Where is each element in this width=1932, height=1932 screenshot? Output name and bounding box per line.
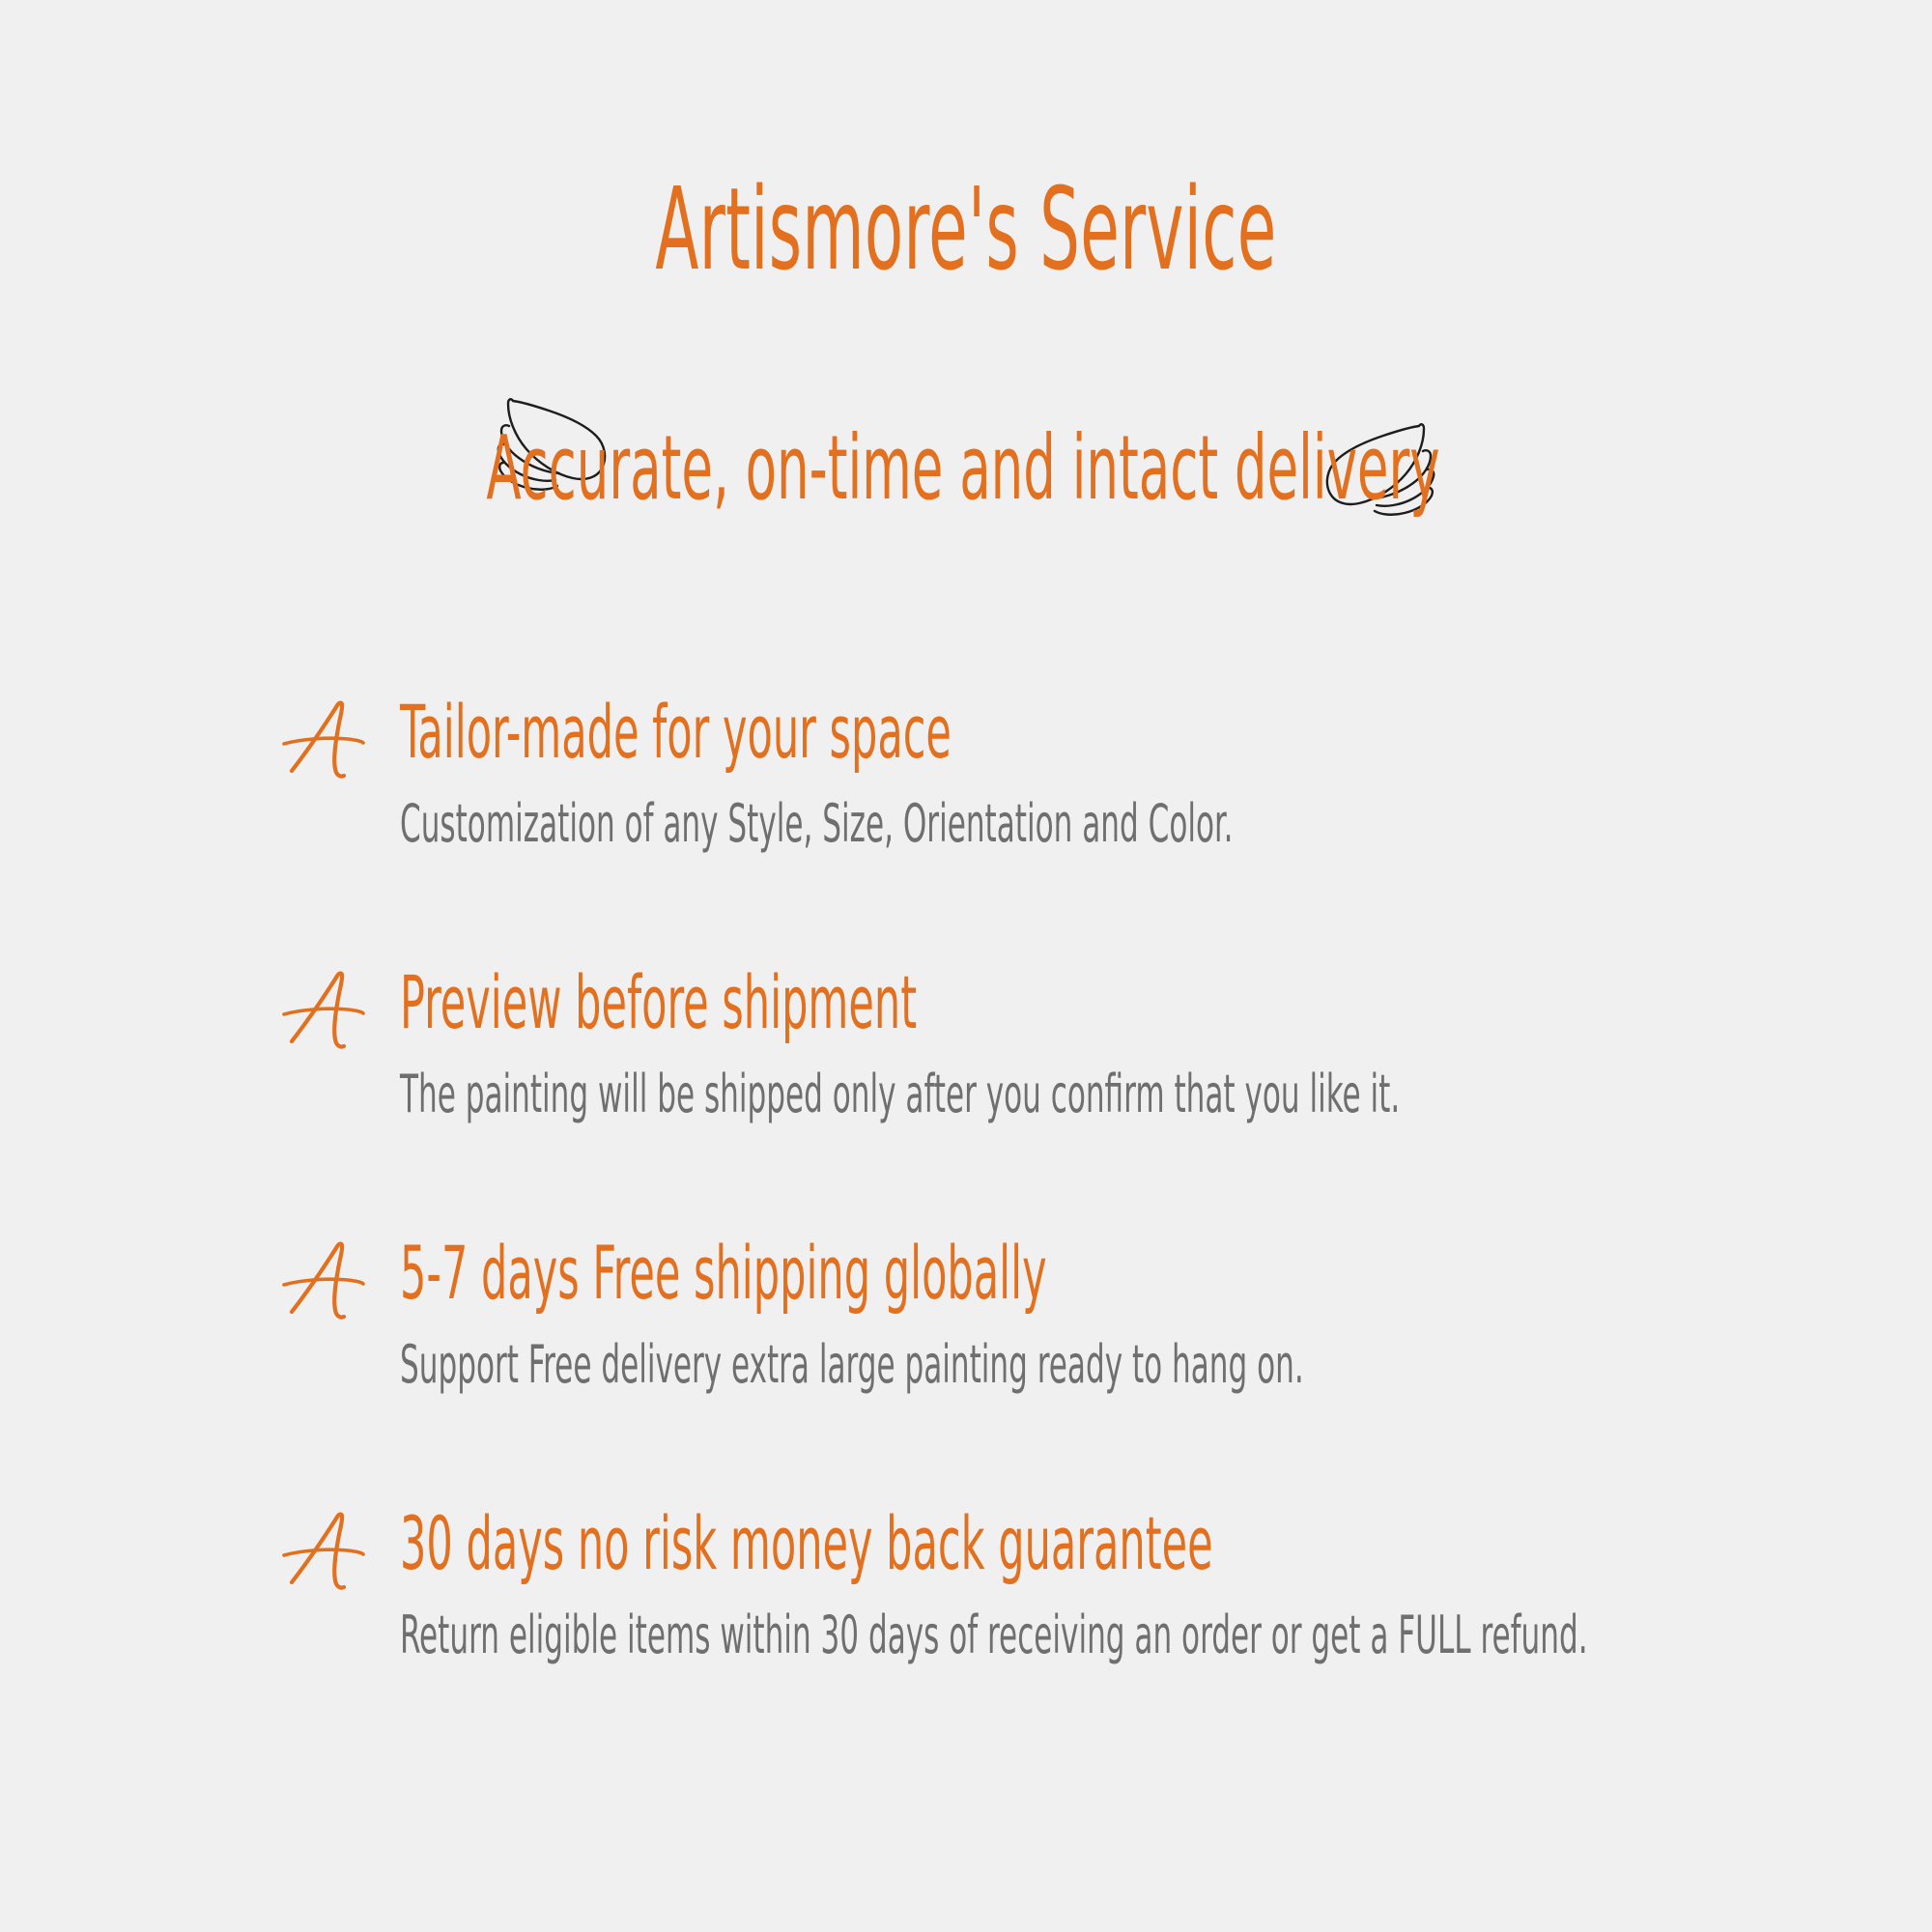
script-a-icon: [280, 1507, 369, 1596]
script-a-icon: [280, 966, 369, 1055]
feature-title: Preview before shipment: [400, 966, 1932, 1039]
feature-description: Return eligible items within 30 days of …: [400, 1609, 1932, 1662]
script-a-icon: [280, 696, 369, 784]
feature-body: Tailor-made for your space Customization…: [400, 696, 1845, 850]
feature-body: Preview before shipment The painting wil…: [400, 966, 1845, 1121]
subtitle-row: Accurate, on-time and intact delivery: [0, 396, 1932, 541]
feature-description: Customization of any Style, Size, Orient…: [400, 798, 1932, 850]
feature-body: 5-7 days Free shipping globally Support …: [400, 1236, 1845, 1391]
subtitle-text: Accurate, on-time and intact delivery: [357, 424, 1569, 513]
script-a-icon: [280, 1236, 369, 1325]
feature-item: Preview before shipment The painting wil…: [280, 966, 1845, 1140]
feature-item: 5-7 days Free shipping globally Support …: [280, 1236, 1845, 1410]
feature-body: 30 days no risk money back guarantee Ret…: [400, 1507, 1845, 1662]
feature-title: 30 days no risk money back guarantee: [400, 1507, 1932, 1580]
page-title: Artismore's Service: [367, 172, 1565, 286]
feature-title: Tailor-made for your space: [400, 696, 1932, 769]
feature-title: 5-7 days Free shipping globally: [400, 1236, 1932, 1310]
feature-item: 30 days no risk money back guarantee Ret…: [280, 1507, 1845, 1681]
feature-list: Tailor-made for your space Customization…: [280, 696, 1845, 1681]
feature-item: Tailor-made for your space Customization…: [280, 696, 1845, 869]
service-info-page: Artismore's Service Accurate, on-time an…: [0, 0, 1932, 1932]
feature-description: The painting will be shipped only after …: [400, 1068, 1932, 1121]
feature-description: Support Free delivery extra large painti…: [400, 1339, 1932, 1391]
